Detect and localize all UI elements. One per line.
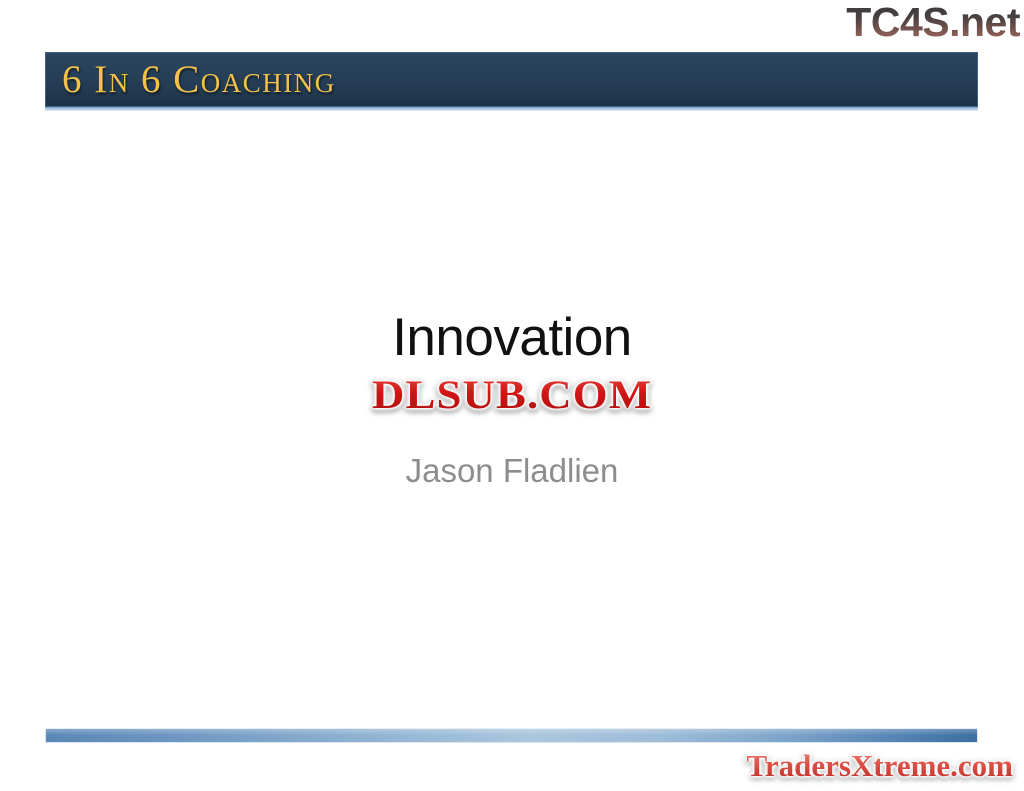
dlsub-watermark-text: DLSUB.COM: [372, 371, 652, 418]
subtitle-block: Jason Fladlien: [0, 452, 1024, 490]
tradersxtreme-watermark: TradersXtreme.com: [746, 748, 1013, 784]
slide-title: Innovation: [0, 310, 1024, 366]
title-block: Innovation: [0, 310, 1024, 366]
slide-subtitle-author: Jason Fladlien: [0, 452, 1024, 490]
footer-gradient-bar: [45, 728, 978, 743]
tradersxtreme-watermark-text: TradersXtreme.com: [746, 748, 1013, 784]
header-banner-title: 6 In 6 Coaching: [62, 57, 336, 102]
header-banner: 6 In 6 Coaching: [45, 52, 978, 107]
presentation-slide: TC4S.net 6 In 6 Coaching Innovation DLSU…: [0, 0, 1024, 791]
tc4s-watermark: TC4S.net: [846, 2, 1020, 43]
header-banner-underline: [45, 107, 978, 111]
dlsub-watermark: DLSUB.COM: [0, 371, 1024, 418]
